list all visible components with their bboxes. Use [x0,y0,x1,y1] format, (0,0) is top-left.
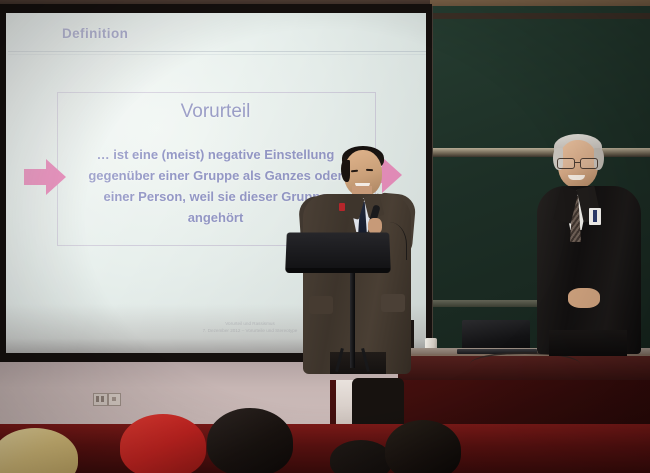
speaker-pocket-left [309,296,333,314]
lecture-hall-photo: Definition Vorurteil … ist eine (meist) … [0,0,650,473]
speaker-hair-side [341,160,350,182]
power-outlet-icon [93,393,108,406]
music-stand-board [285,233,391,273]
second-person-hands [568,288,600,308]
slide-body-line: … ist eine (meist) negative Einstellung [57,144,374,165]
speaker-badge [339,203,345,211]
slide-heading: Vorurteil [57,101,374,123]
chalkboard-frame-shadow [430,13,650,19]
slide-title-divider-secondary [8,54,426,55]
arrow-right-icon [22,154,68,200]
light-switch-icon [108,393,121,406]
name-badge [589,208,601,225]
speaker-eye-right [366,169,373,171]
slide-title: Definition [62,26,128,41]
list-item [385,420,461,473]
second-person-legs [549,330,627,356]
slide-body-line: gegenüber einer Gruppe als Ganzes oder [57,165,374,186]
speaker-pocket-right [381,294,405,312]
glasses-icon [556,158,600,167]
list-item [207,408,293,473]
list-item [120,414,206,473]
music-stand-pole [350,268,355,368]
second-person-smile [568,175,585,180]
slide-title-divider [8,51,426,52]
music-stand-lip [286,268,390,273]
audience-backdrop [0,424,650,473]
chalk-tray [430,148,650,157]
list-item [330,440,392,473]
